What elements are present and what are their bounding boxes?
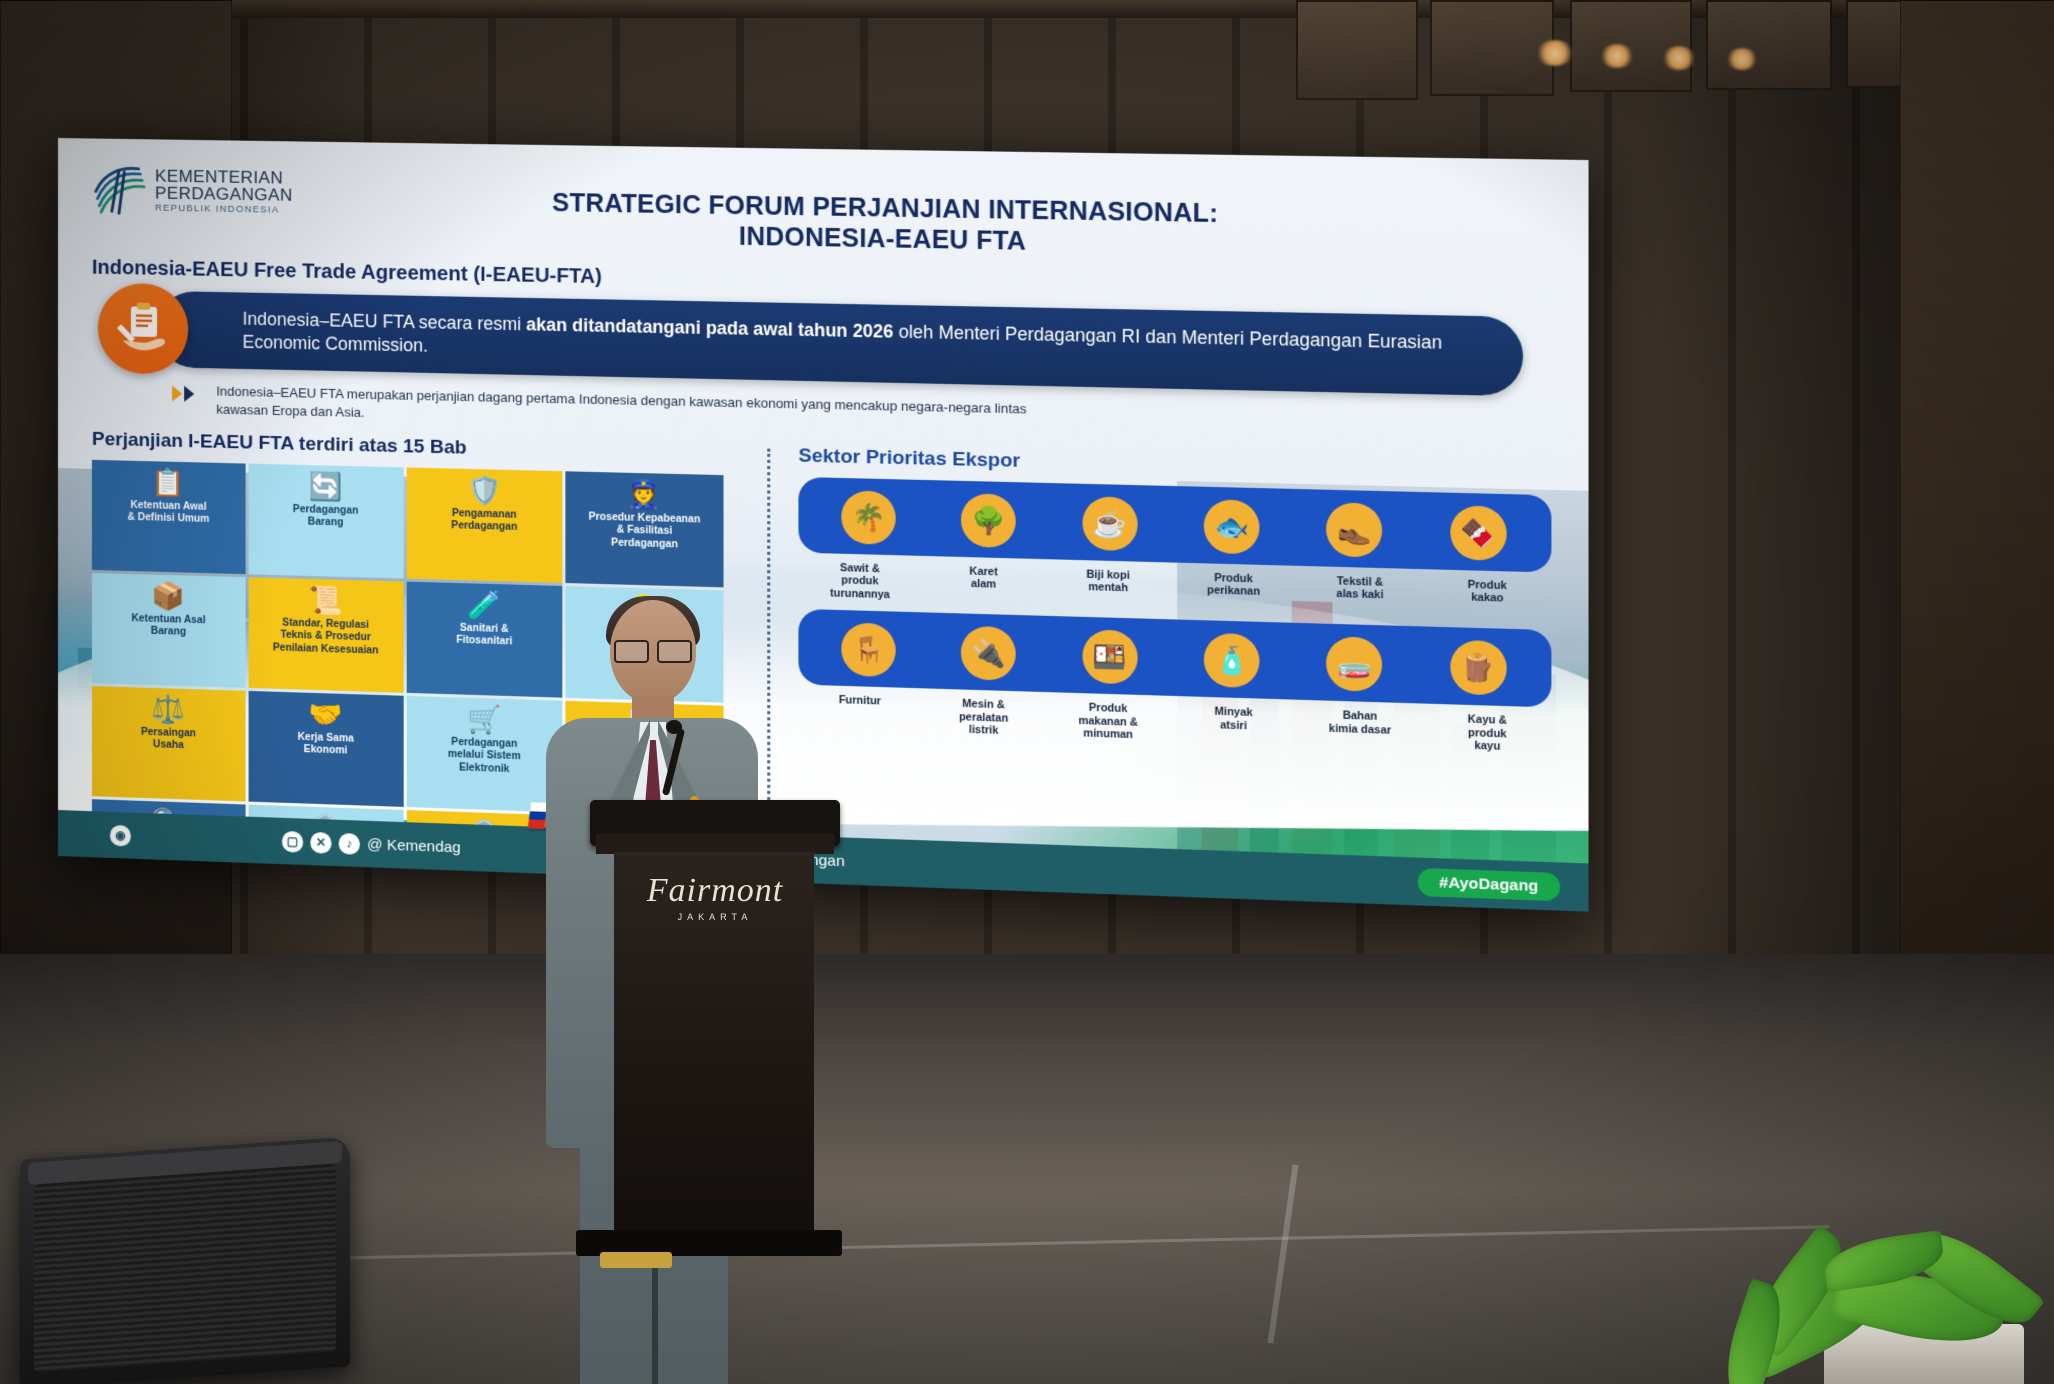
- wall-window: [1706, 0, 1832, 90]
- export-sector-card-1: 🌴🌳☕🐟👞🍫: [798, 477, 1551, 573]
- sector-label: Kayu &produkkayu: [1446, 713, 1529, 754]
- sector-icon: ☕: [1082, 496, 1137, 551]
- sector-row-1-icons: 🌴🌳☕🐟👞🍫: [809, 490, 1541, 567]
- sector-item: 🍱: [1070, 629, 1151, 689]
- sector-item: 🐟: [1191, 499, 1272, 559]
- callout-text-before: Indonesia–EAEU FTA secara resmi: [243, 309, 527, 335]
- chapter-label: PengamananPerdagangan: [451, 508, 517, 534]
- sector-item: ☕: [1070, 496, 1151, 556]
- ceiling-lamp: [1600, 44, 1634, 68]
- footer-social-left: ▢ ✕ ♪ @ Kemendag: [282, 830, 461, 858]
- chapter-label: Perdaganganmelalui SistemElektronik: [448, 737, 521, 777]
- sector-label: Minyakatsiri: [1193, 705, 1274, 746]
- chapter-tile: 🤝Kerja SamaEkonomi: [248, 691, 403, 807]
- decorative-plant: [1644, 1134, 2054, 1384]
- ceiling-lamp: [1536, 40, 1574, 66]
- signing-callout: Indonesia–EAEU FTA secara resmi akan dit…: [92, 290, 1551, 399]
- chapter-tile: 📜Standar, RegulasiTeknis & ProsedurPenil…: [248, 577, 403, 692]
- callout-text: Indonesia–EAEU FTA secara resmi akan dit…: [243, 308, 1495, 380]
- sector-label: Sawit &produkturunannya: [820, 561, 900, 601]
- podium-shelf: [596, 834, 834, 854]
- ceiling-lamp: [1726, 48, 1758, 70]
- sector-label: Furnitur: [820, 694, 900, 735]
- instagram-icon: ▢: [282, 830, 303, 852]
- chapters-heading: Perjanjian I-EAEU FTA terdiri atas 15 Ba…: [92, 429, 744, 467]
- wall-window: [1430, 0, 1554, 96]
- x-twitter-icon: ✕: [310, 831, 331, 853]
- globe-icon: ◉: [110, 824, 131, 846]
- callout-text-bold: akan ditandatangani pada awal tahun 2026: [526, 314, 893, 342]
- podium-brand-name: Fairmont: [600, 872, 830, 910]
- podium-brand: Fairmont JAKARTA: [600, 872, 830, 922]
- chapter-tile: 🔄PerdaganganBarang: [248, 464, 403, 579]
- sector-row-2-icons: 🪑🔌🍱🧴🧫🪵: [809, 622, 1541, 701]
- sector-icon: 🔌: [961, 626, 1016, 681]
- chapter-icon: ⚖️: [152, 696, 186, 724]
- social-handle: @ Kemendag: [367, 835, 461, 856]
- chapter-icon: 🛡️: [467, 477, 501, 505]
- sector-label: Tekstil &alas kaki: [1319, 575, 1401, 616]
- chapter-tile: 📦Ketentuan AsalBarang: [92, 573, 245, 688]
- sector-icon: 🍱: [1082, 629, 1137, 684]
- chapter-icon: 📦: [152, 583, 186, 611]
- podium-brand-city: JAKARTA: [600, 912, 830, 922]
- wall-window: [1296, 0, 1418, 100]
- logo-line-3: REPUBLIK INDONESIA: [155, 204, 293, 216]
- sector-icon: 🧫: [1327, 636, 1383, 692]
- speaker-glasses: [614, 640, 692, 660]
- sector-icon: 🪑: [841, 623, 895, 678]
- chapter-label: Standar, RegulasiTeknis & ProsedurPenila…: [273, 617, 379, 657]
- chapter-icon: 🤝: [309, 701, 343, 729]
- sector-icon: 🪵: [1450, 640, 1506, 696]
- sector-item: 🍫: [1437, 505, 1520, 566]
- sector-item: 🪑: [829, 622, 909, 682]
- sector-label: Biji kopimentah: [1068, 568, 1149, 609]
- podium-gold-accent: [600, 1252, 672, 1268]
- sector-label: Produkmakanan &minuman: [1068, 701, 1149, 742]
- sector-item: 🌴: [829, 490, 909, 549]
- sector-icon: 🍫: [1450, 505, 1506, 561]
- chapter-label: Prosedur Kepabeanan& FasilitasiPerdagang…: [589, 512, 701, 552]
- sector-label: Karetalam: [944, 565, 1024, 605]
- sector-label: Mesin &peralatanlistrik: [944, 697, 1024, 738]
- footer-website: ◉: [110, 824, 131, 846]
- logo-line-2: PERDAGANGAN: [155, 185, 293, 205]
- chapter-icon: 📜: [309, 587, 343, 615]
- sector-item: 👞: [1314, 502, 1396, 562]
- callout-pill: Indonesia–EAEU FTA secara resmi akan dit…: [156, 291, 1523, 396]
- kemendag-logo-icon: [92, 165, 146, 216]
- chapter-icon: 📋: [152, 469, 186, 497]
- slide-header: KEMENTERIAN PERDAGANGAN REPUBLIK INDONES…: [92, 159, 1551, 267]
- double-chevron-icon: [170, 383, 204, 404]
- chapter-tile: 👮Prosedur Kepabeanan& FasilitasiPerdagan…: [566, 471, 724, 587]
- sector-label: Bahankimia dasar: [1319, 709, 1401, 750]
- sector-item: 🧴: [1191, 633, 1272, 693]
- ministry-logo: KEMENTERIAN PERDAGANGAN REPUBLIK INDONES…: [92, 165, 293, 218]
- chapter-label: PerdaganganBarang: [293, 504, 358, 530]
- sector-icon: 🐟: [1204, 499, 1260, 554]
- tiktok-icon: ♪: [339, 832, 360, 854]
- chapter-tile: 📋Ketentuan Awal& Definisi Umum: [92, 460, 245, 574]
- conference-photo: KEMENTERIAN PERDAGANGAN REPUBLIK INDONES…: [0, 0, 2054, 1384]
- chapter-tile: 🛡️PengamananPerdagangan: [406, 468, 562, 583]
- chapter-label: PersainganUsaha: [141, 727, 196, 753]
- chapter-icon: 🛒: [467, 706, 501, 734]
- sector-icon: 🧴: [1204, 633, 1260, 689]
- chapter-icon: 👮: [627, 481, 662, 509]
- sector-icon: 👞: [1327, 502, 1383, 557]
- chapter-icon: 🧪: [467, 592, 501, 620]
- monitor-grill: [34, 1163, 336, 1372]
- ceiling-lamp: [1662, 46, 1696, 70]
- chapter-label: Ketentuan Awal& Definisi Umum: [128, 500, 210, 527]
- sector-item: 🪵: [1437, 640, 1520, 701]
- presentation-slide: KEMENTERIAN PERDAGANGAN REPUBLIK INDONES…: [58, 138, 1589, 912]
- export-sector-card-2: 🪑🔌🍱🧴🧫🪵: [798, 609, 1551, 708]
- chapter-label: Ketentuan AsalBarang: [131, 613, 205, 640]
- microphone-head: [666, 720, 682, 734]
- sector-label: Produkperikanan: [1193, 571, 1274, 612]
- sector-item: 🧫: [1314, 636, 1396, 697]
- sector-item: 🌳: [949, 493, 1029, 553]
- sector-row-1-labels: Sawit &produkturunannyaKaretalamBiji kop…: [798, 561, 1551, 620]
- chapter-icon: 🔄: [309, 473, 343, 501]
- sector-item: 🔌: [949, 626, 1029, 686]
- hashtag-badge: #AyoDagang: [1418, 867, 1560, 900]
- chapter-label: Sanitari &Fitosanitari: [456, 623, 512, 649]
- note-text: Indonesia–EAEU FTA merupakan perjanjian …: [216, 382, 1042, 436]
- slide-title: STRATEGIC FORUM PERJANJIAN INTERNASIONAL…: [309, 162, 1552, 266]
- stage-monitor-speaker: [20, 1136, 350, 1384]
- podium: Fairmont JAKARTA: [600, 800, 830, 1300]
- sector-icon: 🌳: [961, 493, 1016, 548]
- led-screen: KEMENTERIAN PERDAGANGAN REPUBLIK INDONES…: [58, 138, 1589, 912]
- sector-label: Produkkakao: [1446, 578, 1529, 619]
- chapter-tile: ⚖️PersainganUsaha: [92, 686, 245, 801]
- chapter-label: Kerja SamaEkonomi: [297, 732, 353, 759]
- sector-icon: 🌴: [841, 490, 895, 545]
- signing-contract-icon: [98, 283, 188, 375]
